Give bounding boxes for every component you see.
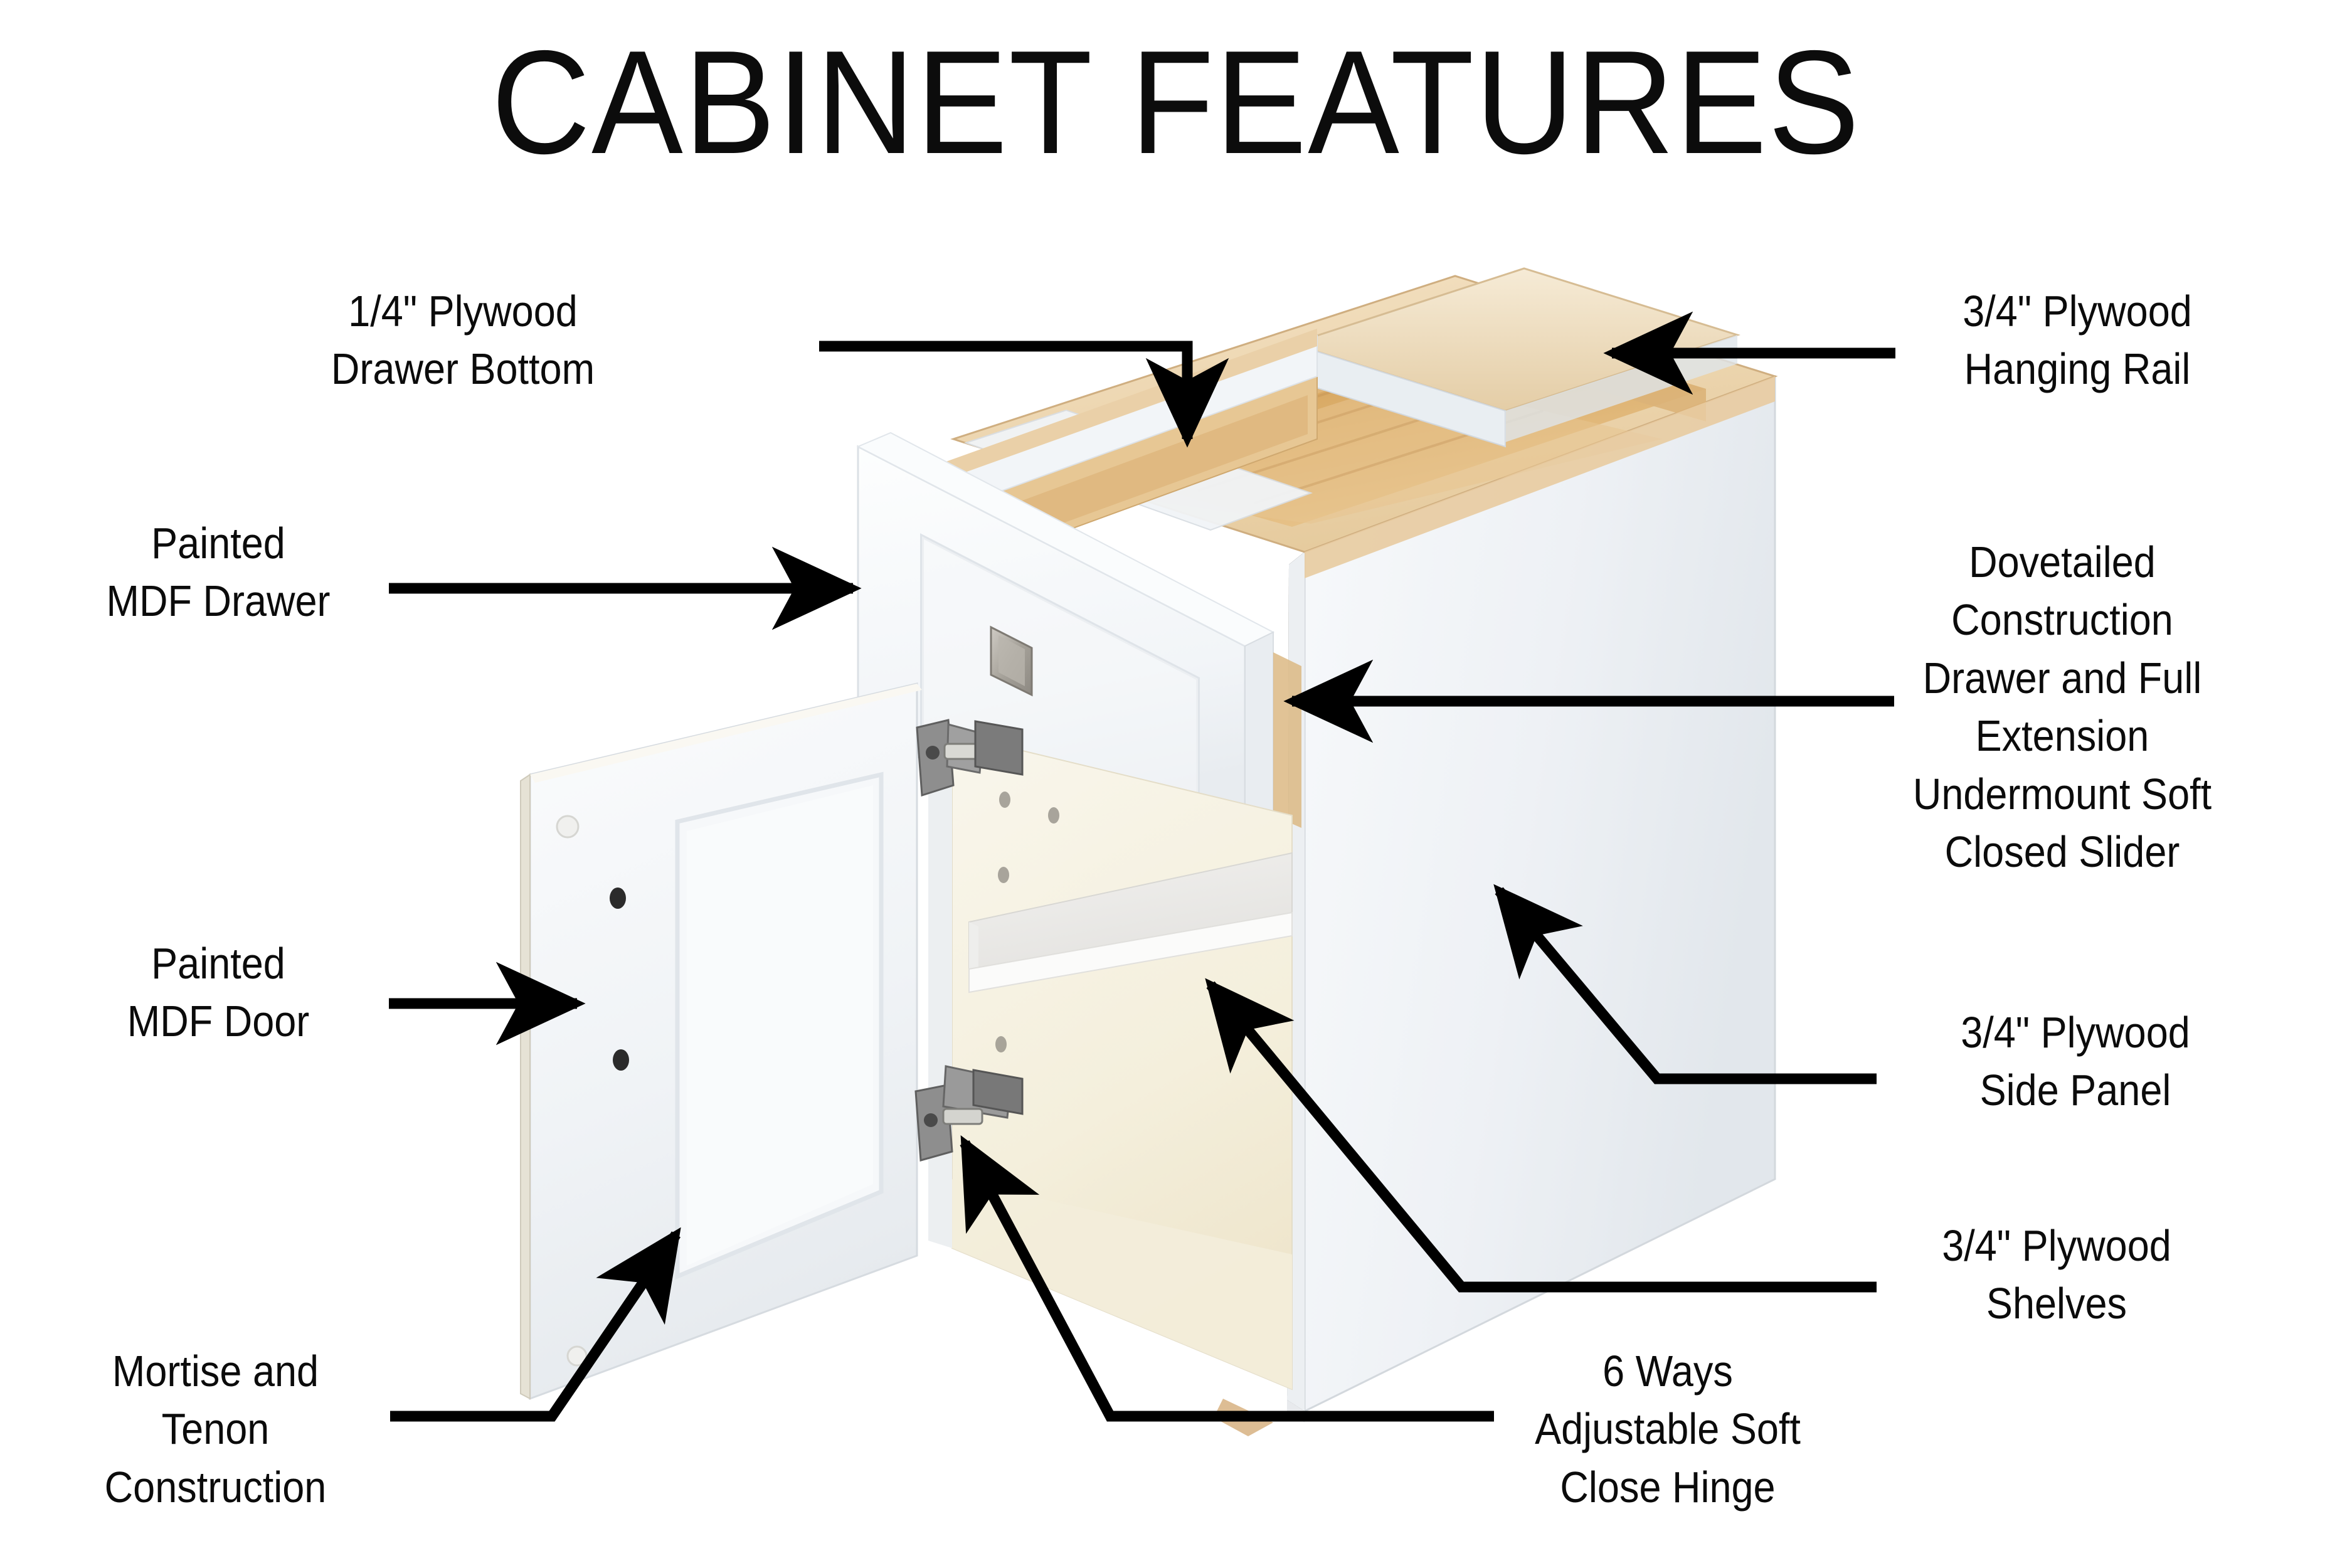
cabinet-features-infographic: CABINET FEATURES: [0, 0, 2352, 1568]
cabinet-top-front-rail: [966, 410, 1311, 530]
cabinet-right-interior: [1449, 310, 1706, 421]
arrow-shelves: [1210, 985, 1877, 1287]
label-shelves: 3/4" Plywood Shelves: [1882, 1217, 2232, 1333]
hanging-rail-front-face: [1292, 344, 1505, 447]
door-hinge-cup-screws: [610, 887, 629, 1071]
cabinet-top-frame: [953, 276, 1775, 552]
arrow-mortise-tenon: [390, 1234, 676, 1416]
interior-shelf-top: [969, 853, 1292, 969]
cabinet-interior-back: [952, 734, 1292, 1389]
cabinet-side-panel-edge: [1287, 552, 1305, 1411]
door-bumper-top: [557, 816, 578, 837]
arrow-soft-close-hinge: [965, 1143, 1494, 1416]
drawer-knob: [991, 627, 1032, 695]
door-shaker-panel: [677, 775, 881, 1276]
cabinet-side-panel: [1305, 376, 1775, 1411]
label-dovetailed-construction: Dovetailed Construction Drawer and Full …: [1882, 533, 2243, 881]
label-painted-mdf-drawer: Painted MDF Drawer: [60, 514, 376, 630]
toe-kick-wood: [1214, 1399, 1273, 1436]
label-drawer-bottom: 1/4" Plywood Drawer Bottom: [305, 282, 621, 398]
cabinet-floor: [952, 1179, 1292, 1389]
drawer-box-back-wall: [875, 336, 1317, 537]
door-top-edge: [530, 684, 922, 783]
lower-hinge: [916, 1066, 1022, 1160]
cabinet-top-opening: [1016, 310, 1706, 527]
door-left-edge: [521, 775, 530, 1399]
cabinet-door: [530, 684, 917, 1399]
label-painted-mdf-door: Painted MDF Door: [60, 935, 376, 1051]
cabinet-bottom-front: [1287, 1400, 1305, 1422]
shelf-pin-holes: [995, 792, 1059, 1052]
arrow-drawer-bottom: [819, 346, 1187, 439]
drawer-front-shaker-panel: [922, 536, 1198, 797]
drawer-box-interior: [922, 352, 1317, 583]
drawer-front-right-edge: [1245, 632, 1273, 834]
drawer-front-top-edge: [858, 433, 1273, 646]
drawer-front: [858, 447, 1245, 834]
cabinet-back-interior: [1016, 310, 1449, 486]
label-hanging-rail: 3/4" Plywood Hanging Rail: [1919, 282, 2235, 398]
page-title: CABINET FEATURES: [82, 25, 2270, 180]
interior-shelf-front: [969, 913, 1292, 992]
cabinet-body: [521, 268, 1775, 1436]
label-side-panel: 3/4" Plywood Side Panel: [1900, 1004, 2250, 1120]
interior-shelf-edge: [969, 922, 978, 973]
label-soft-close-hinge: 6 Ways Adjustable Soft Close Hinge: [1493, 1342, 1843, 1516]
cabinet-front-edge-top: [1305, 376, 1775, 578]
drawer-slide-gap: [1273, 652, 1301, 828]
label-mortise-tenon: Mortise and Tenon Construction: [55, 1342, 376, 1516]
cabinet-interior-left-wall: [928, 728, 952, 1248]
arrow-side-panel: [1499, 891, 1877, 1079]
hanging-rail: [1292, 268, 1737, 411]
door-bumper-bottom: [568, 1347, 586, 1365]
upper-hinge: [917, 720, 1022, 795]
drawer-bottom-panel: [941, 395, 1308, 568]
